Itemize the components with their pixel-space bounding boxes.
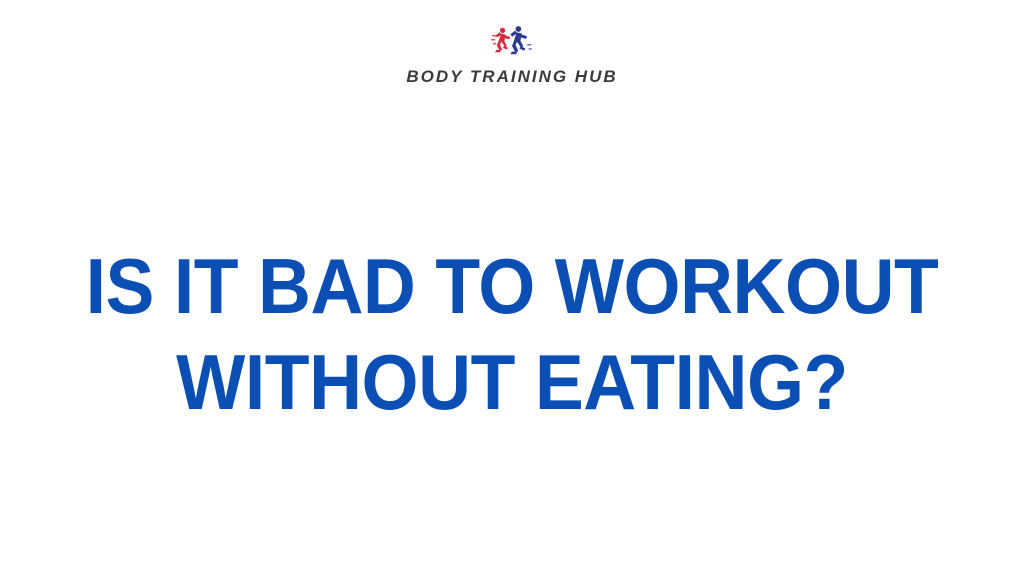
headline-line-2: WITHOUT EATING? (31, 334, 994, 430)
page-title: IS IT BAD TO WORKOUT WITHOUT EATING? (0, 238, 1024, 430)
brand-block: BODY TRAINING HUB (0, 24, 1024, 87)
title-card: BODY TRAINING HUB IS IT BAD TO WORKOUT W… (0, 0, 1024, 576)
two-runners-icon (490, 24, 534, 62)
headline-line-1: IS IT BAD TO WORKOUT (31, 238, 994, 334)
brand-name: BODY TRAINING HUB (406, 68, 617, 87)
